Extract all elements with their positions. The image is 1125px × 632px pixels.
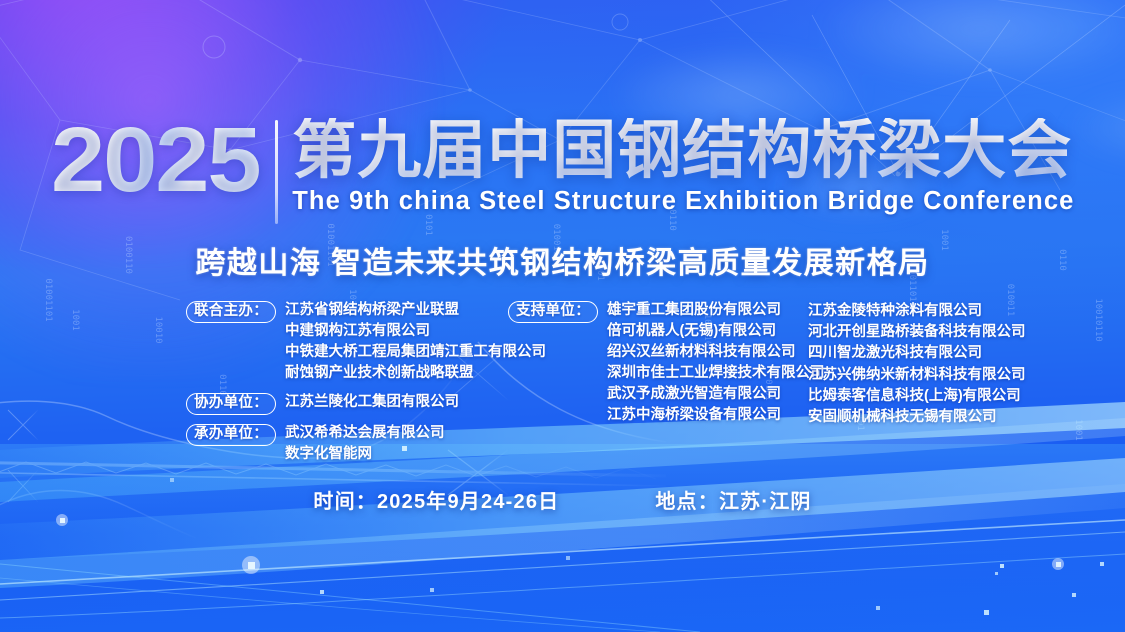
event-meta-row: 时间：2025年9月24-26日 地点：江苏·江阴 xyxy=(0,485,1125,514)
org-line: 江苏兰陵化工集团有限公司 xyxy=(285,392,459,413)
org-line: 比姆泰客信息科技(上海)有限公司 xyxy=(808,386,1046,407)
org-line: 倍可机器人(无锡)有限公司 xyxy=(607,321,825,342)
org-line: 绍兴汉丝新材料科技有限公司 xyxy=(607,342,825,363)
sponsors-section: 联合主办： 江苏省钢结构桥梁产业联盟 中建钢构江苏有限公司 中铁建大桥工程局集团… xyxy=(186,300,1046,465)
org-line: 雄宇重工集团股份有限公司 xyxy=(607,300,825,321)
org-line: 河北开创星路桥装备科技有限公司 xyxy=(808,322,1046,343)
org-list-supporting-units: 雄宇重工集团股份有限公司 倍可机器人(无锡)有限公司 绍兴汉丝新材料科技有限公司… xyxy=(607,300,825,426)
sponsor-column-left: 联合主办： 江苏省钢结构桥梁产业联盟 中建钢构江苏有限公司 中铁建大桥工程局集团… xyxy=(186,300,508,465)
org-line: 数字化智能网 xyxy=(285,444,445,465)
event-location: 地点：江苏·江阴 xyxy=(655,485,811,514)
org-line: 武汉予成激光智造有限公司 xyxy=(607,384,825,405)
pill-label-supporting-units: 支持单位： xyxy=(508,301,598,323)
sponsor-column-right: 江苏金陵特种涂料有限公司 河北开创星路桥装备科技有限公司 四川智龙激光科技有限公… xyxy=(808,300,1046,428)
org-line: 江苏省钢结构桥梁产业联盟 xyxy=(285,300,546,321)
org-line: 江苏中海桥梁设备有限公司 xyxy=(607,405,825,426)
sponsor-group-co-organizers: 联合主办： 江苏省钢结构桥梁产业联盟 中建钢构江苏有限公司 中铁建大桥工程局集团… xyxy=(186,300,508,384)
title-block: 第九届中国钢结构桥梁大会 The 9th china Steel Structu… xyxy=(292,118,1074,216)
conference-banner: 01001101 1001 0100110 10010 0110 0100110… xyxy=(0,0,1125,632)
year-2025: 2025 xyxy=(51,118,279,203)
pill-label-co-organizers: 联合主办： xyxy=(186,301,276,323)
sponsor-group-assisting-unit: 协办单位： 江苏兰陵化工集团有限公司 xyxy=(186,392,508,415)
org-line: 深圳市佳士工业焊接技术有限公司 xyxy=(607,363,825,384)
sponsor-group-supporting-units: 支持单位： 雄宇重工集团股份有限公司 倍可机器人(无锡)有限公司 绍兴汉丝新材料… xyxy=(508,300,808,426)
org-list-co-organizers: 江苏省钢结构桥梁产业联盟 中建钢构江苏有限公司 中铁建大桥工程局集团靖江重工有限… xyxy=(285,300,546,384)
conference-title-cn: 第九届中国钢结构桥梁大会 xyxy=(292,118,1074,183)
title-row: 2025 第九届中国钢结构桥梁大会 The 9th china Steel St… xyxy=(0,118,1125,224)
org-line: 武汉希希达会展有限公司 xyxy=(285,423,445,444)
org-line: 耐蚀钢产业技术创新战略联盟 xyxy=(285,363,546,384)
org-line: 四川智龙激光科技有限公司 xyxy=(808,343,1046,364)
org-line: 中建钢构江苏有限公司 xyxy=(285,321,546,342)
org-list-undertaking-unit: 武汉希希达会展有限公司 数字化智能网 xyxy=(285,423,445,465)
org-line: 江苏兴佛纳米新材料科技有限公司 xyxy=(808,365,1046,386)
pill-label-assisting-unit: 协办单位： xyxy=(186,393,276,415)
org-line: 江苏金陵特种涂料有限公司 xyxy=(808,301,1046,322)
conference-title-en: The 9th china Steel Structure Exhibition… xyxy=(292,187,1074,216)
org-line: 安固顺机械科技无锡有限公司 xyxy=(808,407,1046,428)
org-list-assisting-unit: 江苏兰陵化工集团有限公司 xyxy=(285,392,459,413)
pill-label-undertaking-unit: 承办单位： xyxy=(186,424,276,446)
conference-slogan: 跨越山海 智造未来共筑钢结构桥梁高质量发展新格局 xyxy=(0,238,1125,282)
banner-content: 2025 第九届中国钢结构桥梁大会 The 9th china Steel St… xyxy=(0,0,1125,632)
event-date: 时间：2025年9月24-26日 xyxy=(313,485,559,514)
sponsor-group-undertaking-unit: 承办单位： 武汉希希达会展有限公司 数字化智能网 xyxy=(186,423,508,465)
sponsor-column-middle: 支持单位： 雄宇重工集团股份有限公司 倍可机器人(无锡)有限公司 绍兴汉丝新材料… xyxy=(508,300,808,426)
org-line: 中铁建大桥工程局集团靖江重工有限公司 xyxy=(285,342,546,363)
